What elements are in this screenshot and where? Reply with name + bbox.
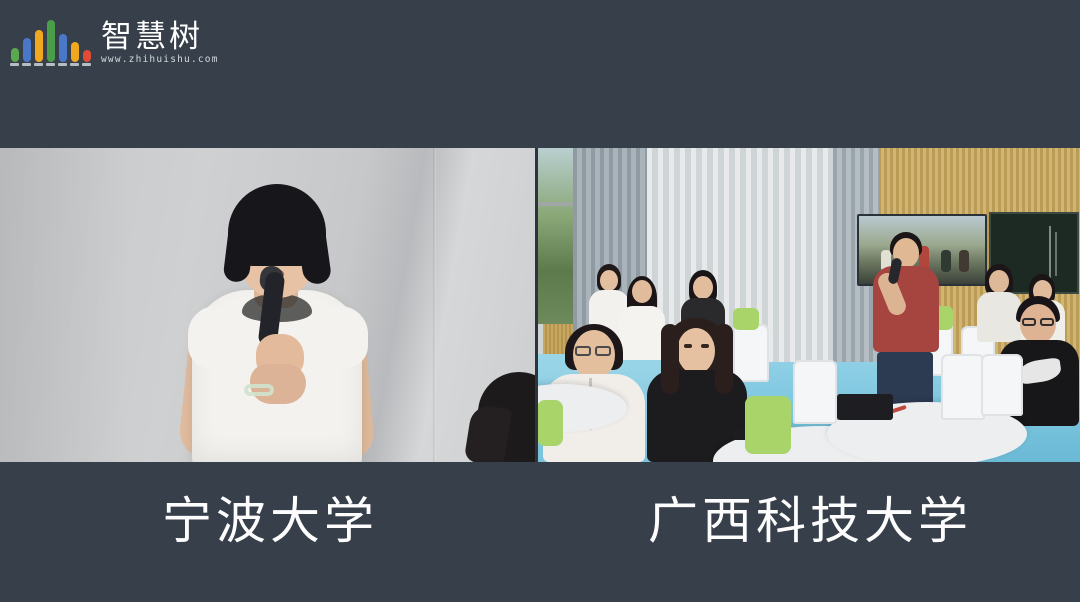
chair-green-front bbox=[745, 396, 791, 454]
brand-name: 智慧树 bbox=[101, 21, 203, 53]
speaker-sleeve-left bbox=[188, 306, 246, 368]
zhihuishu-bars-logo bbox=[10, 22, 91, 70]
video-tile-right[interactable] bbox=[537, 148, 1080, 462]
chair bbox=[941, 354, 985, 420]
logo-bar-6 bbox=[70, 42, 79, 66]
logo-bar-1 bbox=[10, 48, 19, 66]
video-tile-left[interactable] bbox=[0, 148, 537, 462]
equipment-box bbox=[837, 394, 893, 420]
logo-bar-4 bbox=[46, 20, 55, 66]
screen-root: 智慧树 www.zhihuishu.com bbox=[0, 0, 1080, 602]
caption-left-university: 宁波大学 bbox=[162, 493, 378, 549]
wall-shadow bbox=[0, 148, 130, 462]
caption-cell-left: 宁波大学 bbox=[0, 466, 540, 576]
speaker-sleeve-right bbox=[310, 306, 368, 368]
chair-green-back bbox=[733, 308, 759, 330]
logo-bar-3 bbox=[34, 30, 43, 66]
chalk-writing-1 bbox=[1049, 226, 1051, 282]
caption-right-university: 广西科技大学 bbox=[648, 493, 972, 549]
video-grid bbox=[0, 148, 1080, 462]
video-divider bbox=[535, 148, 538, 462]
brand-text-block: 智慧树 www.zhihuishu.com bbox=[101, 21, 219, 70]
chair bbox=[733, 324, 769, 382]
logo-bar-2 bbox=[22, 38, 31, 66]
brand-logo[interactable]: 智慧树 www.zhihuishu.com bbox=[10, 8, 219, 70]
classroom-scene bbox=[537, 148, 1080, 462]
wall-seam bbox=[433, 148, 436, 462]
speaker-jade-bangle bbox=[244, 384, 274, 396]
caption-row: 宁波大学 广西科技大学 bbox=[0, 466, 1080, 576]
window-with-foliage bbox=[537, 148, 573, 324]
chair-green-left bbox=[537, 400, 563, 446]
chalk-writing-2 bbox=[1055, 232, 1057, 276]
logo-bar-5 bbox=[58, 34, 67, 66]
chair bbox=[981, 354, 1023, 416]
brand-url: www.zhihuishu.com bbox=[101, 54, 219, 66]
logo-bar-7 bbox=[82, 50, 91, 66]
speaker-figure bbox=[186, 178, 366, 462]
window-frame bbox=[537, 202, 573, 206]
chair bbox=[793, 360, 837, 424]
caption-cell-right: 广西科技大学 bbox=[540, 466, 1080, 576]
